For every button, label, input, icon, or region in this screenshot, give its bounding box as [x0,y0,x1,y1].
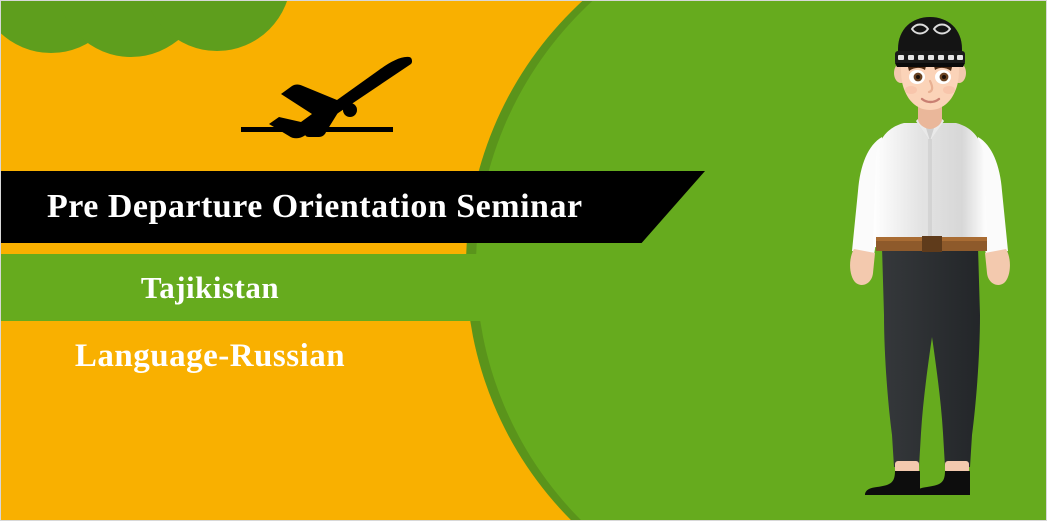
language-label: Language-Russian [75,338,617,375]
dark-charcoal-trousers [882,247,980,467]
white-dress-shirt [873,115,987,247]
airplane-takeoff-icon [233,53,413,149]
poster-canvas: Pre Departure Orientation Seminar Tajiki… [0,0,1047,521]
country-banner: Tajikistan [1,254,691,321]
tajik-man-illustration [846,15,1026,509]
country-label: Tajikistan [141,270,551,306]
brown-leather-belt [876,236,987,252]
title-banner: Pre Departure Orientation Seminar [1,171,705,243]
runway-line [241,127,393,132]
page-title: Pre Departure Orientation Seminar [1,188,583,226]
black-dress-shoes [865,471,970,495]
tajik-embroidered-cap [895,17,965,67]
language-banner: Language-Russian [1,321,691,391]
